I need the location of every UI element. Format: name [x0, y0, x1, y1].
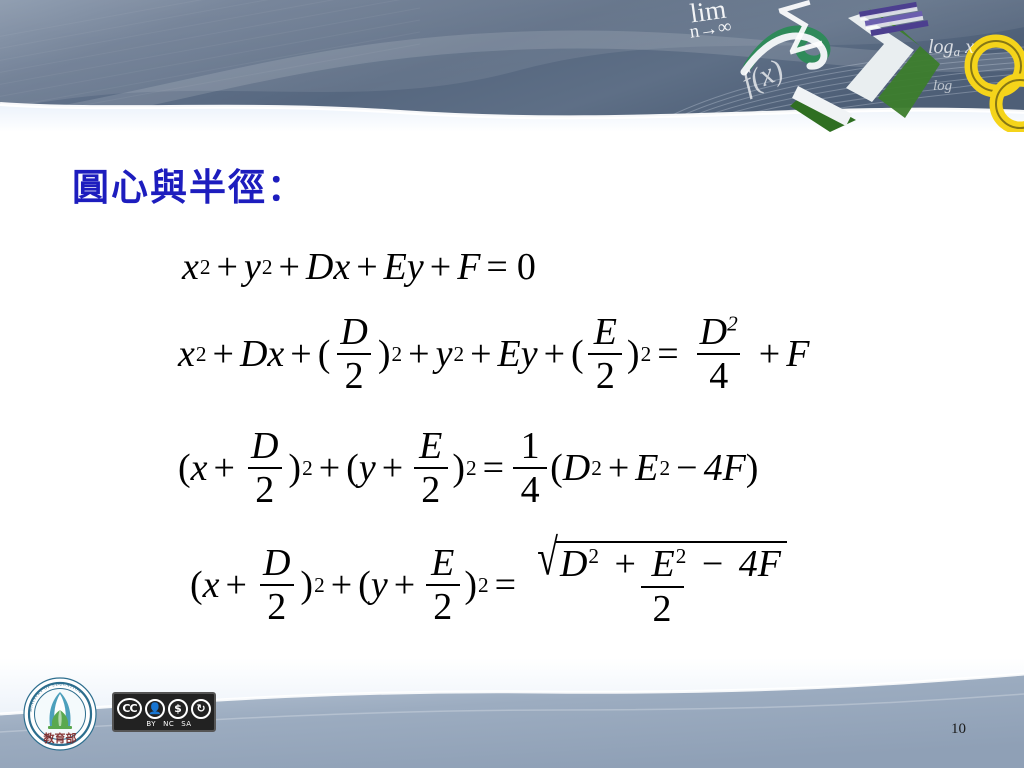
- page-title: 圓心與半徑：: [72, 168, 306, 209]
- equation-completing-square: x2 + Dx + ( D 2 )2 + y2 + Ey + ( E 2 )2 …: [178, 300, 1024, 408]
- cc-icon: CC: [117, 698, 142, 719]
- equation-list: x2 + y2 + Dx + Ey + F = 0 x2 + Dx + ( D …: [0, 236, 1024, 644]
- cc-by-label: BY: [146, 720, 156, 728]
- cc-icon-row: CC 👤 $ ↻: [117, 698, 211, 719]
- slide: lim n→∞ ∑ f(x) loga x log 圓心與半徑： x2 + y2…: [0, 0, 1024, 768]
- cc-sa-icon: ↻: [191, 699, 211, 719]
- equation-radius-formula: ( x + D 2 )2 + ( y + E 2 )2 = √: [190, 526, 1024, 644]
- cc-sa-label: SA: [181, 720, 191, 728]
- ministry-of-education-seal: MINISTRY OF EDUCATION 教育部: [22, 676, 98, 752]
- svg-text:教育部: 教育部: [43, 731, 77, 745]
- cc-by-icon: 👤: [145, 699, 165, 719]
- equation-general-circle: x2 + y2 + Dx + Ey + F = 0: [182, 236, 1024, 298]
- cc-license-badge[interactable]: CC 👤 $ ↻ BY NC SA: [112, 692, 216, 732]
- header-banner: [0, 0, 1024, 132]
- square-root-icon: √ D2 + E2 − 4F: [537, 541, 787, 584]
- equation-standard-form: ( x + D 2 )2 + ( y + E 2 )2 = 1 4 ( D2: [178, 412, 1024, 524]
- cc-label-row: BY NC SA: [146, 720, 191, 728]
- cc-nc-label: NC: [163, 720, 174, 728]
- page-number: 10: [951, 721, 966, 738]
- cc-nc-icon: $: [168, 699, 188, 719]
